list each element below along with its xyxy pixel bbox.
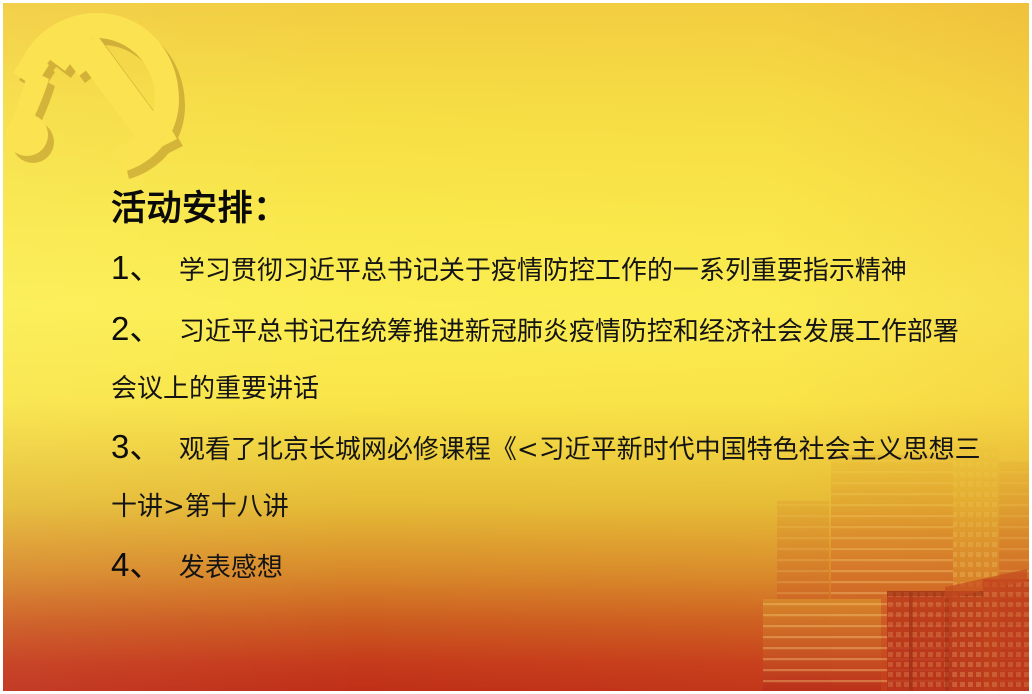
slide-heading: 活动安排： <box>111 189 981 229</box>
agenda-item-2: 2、 习近平总书记在统筹推进新冠肺炎疫情防控和经济社会发展工作部署会议上的重要讲… <box>111 300 981 418</box>
agenda-item-text: 观看了北京长城网必修课程《<习近平新时代中国特色社会主义思想三十讲>第十八讲 <box>111 435 981 522</box>
agenda-item-gap <box>162 317 179 347</box>
slide-content: 活动安排： 1、 学习贯彻习近平总书记关于疫情防控工作的一系列重要指示精神 2、… <box>111 189 981 597</box>
agenda-item-1: 1、 学习贯彻习近平总书记关于疫情防控工作的一系列重要指示精神 <box>111 239 981 300</box>
agenda-item-4: 4、 发表感想 <box>111 536 981 597</box>
agenda-item-number: 4 <box>111 546 129 583</box>
agenda-item-3: 3、 观看了北京长城网必修课程《<习近平新时代中国特色社会主义思想三十讲>第十八… <box>111 418 981 536</box>
presentation-slide: 活动安排： 1、 学习贯彻习近平总书记关于疫情防控工作的一系列重要指示精神 2、… <box>0 0 1032 694</box>
agenda-list: 1、 学习贯彻习近平总书记关于疫情防控工作的一系列重要指示精神 2、 习近平总书… <box>111 239 981 597</box>
agenda-item-separator: 、 <box>129 249 162 286</box>
agenda-item-gap <box>162 256 179 286</box>
agenda-item-separator: 、 <box>129 428 162 465</box>
agenda-item-text: 习近平总书记在统筹推进新冠肺炎疫情防控和经济社会发展工作部署会议上的重要讲话 <box>111 317 959 404</box>
agenda-item-text: 学习贯彻习近平总书记关于疫情防控工作的一系列重要指示精神 <box>179 256 907 286</box>
agenda-item-separator: 、 <box>129 546 162 583</box>
agenda-item-number: 2 <box>111 310 129 347</box>
agenda-item-number: 1 <box>111 249 129 286</box>
agenda-item-text: 发表感想 <box>179 553 283 583</box>
agenda-item-separator: 、 <box>129 310 162 347</box>
agenda-item-gap <box>162 553 179 583</box>
agenda-item-gap <box>162 435 179 465</box>
agenda-item-number: 3 <box>111 428 129 465</box>
